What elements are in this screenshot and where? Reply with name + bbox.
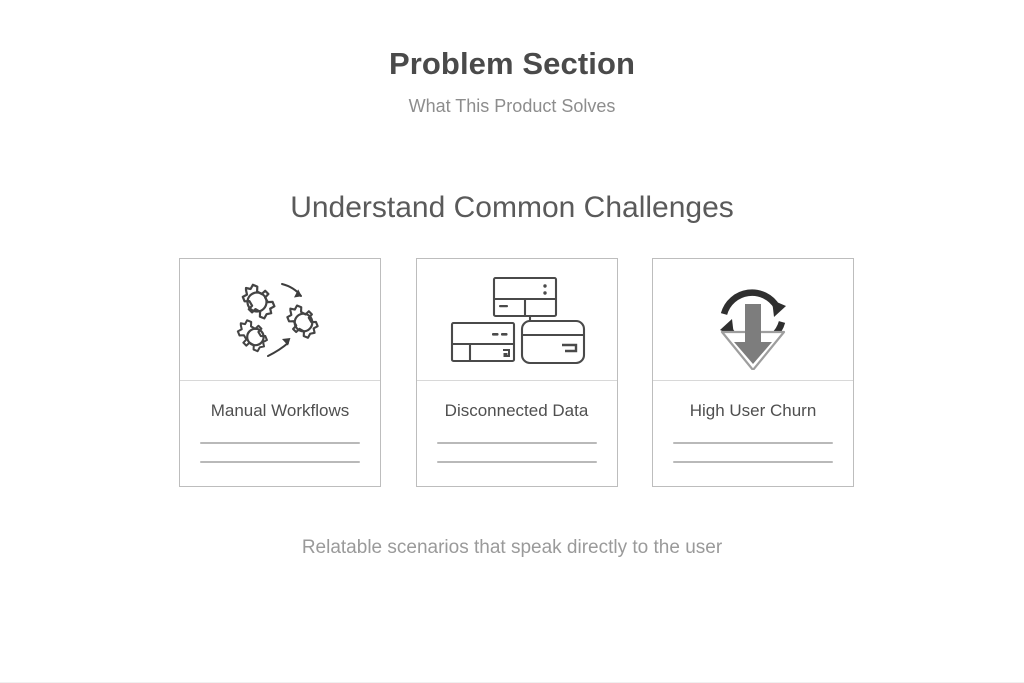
card-label: High User Churn: [690, 400, 817, 422]
page-subtitle: What This Product Solves: [0, 93, 1024, 119]
placeholder-line: [200, 461, 360, 463]
card-placeholder-lines: [200, 442, 360, 463]
slide-header: Problem Section What This Product Solves: [0, 44, 1024, 119]
placeholder-line: [437, 442, 597, 444]
section-heading: Understand Common Challenges: [0, 188, 1024, 228]
database-blocks-icon: [442, 273, 592, 367]
card-body: High User Churn: [653, 381, 853, 486]
card-icon-area: [417, 259, 617, 381]
churn-down-arrow-icon: [698, 270, 808, 370]
gears-icon: [224, 272, 336, 368]
placeholder-line: [673, 442, 833, 444]
card-placeholder-lines: [673, 442, 833, 463]
placeholder-line: [673, 461, 833, 463]
challenge-card-high-user-churn[interactable]: High User Churn: [652, 258, 854, 487]
card-label: Manual Workflows: [211, 400, 350, 422]
card-body: Disconnected Data: [417, 381, 617, 486]
placeholder-line: [437, 461, 597, 463]
card-body: Manual Workflows: [180, 381, 380, 486]
card-label: Disconnected Data: [445, 400, 589, 422]
challenge-card-manual-workflows[interactable]: Manual Workflows: [179, 258, 381, 487]
challenge-card-disconnected-data[interactable]: Disconnected Data: [416, 258, 618, 487]
card-placeholder-lines: [437, 442, 597, 463]
section-caption: Relatable scenarios that speak directly …: [0, 534, 1024, 562]
placeholder-line: [200, 442, 360, 444]
card-icon-area: [653, 259, 853, 381]
challenge-card-list: Manual Workflows: [179, 258, 854, 487]
card-icon-area: [180, 259, 380, 381]
slide-canvas: Problem Section What This Product Solves…: [0, 0, 1024, 683]
page-title: Problem Section: [0, 44, 1024, 84]
